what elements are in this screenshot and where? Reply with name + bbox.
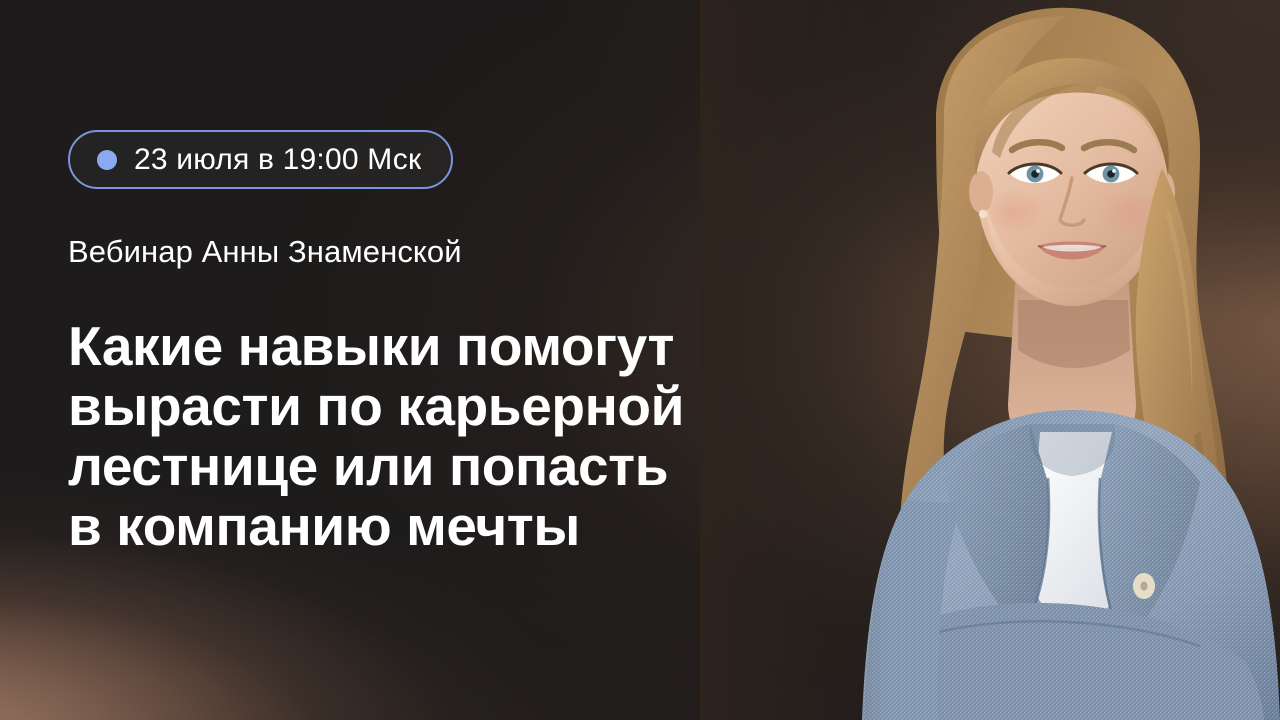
speaker-portrait <box>700 0 1280 720</box>
date-badge-label: 23 июля в 19:00 Мск <box>134 145 421 175</box>
headline-line-1: Какие навыки помогут <box>68 316 708 376</box>
date-badge: 23 июля в 19:00 Мск <box>68 130 453 189</box>
headline-line-4: в компанию мечты <box>68 496 708 556</box>
headline-line-2: вырасти по карьерной <box>68 376 708 436</box>
headline-line-3: лестнице или попасть <box>68 436 708 496</box>
banner-text-content: 23 июля в 19:00 Мск Вебинар Анны Знаменс… <box>68 0 728 720</box>
headline: Какие навыки помогут вырасти по карьерно… <box>68 316 708 556</box>
status-dot-icon <box>97 150 117 170</box>
webinar-subtitle: Вебинар Анны Знаменской <box>68 232 462 272</box>
webinar-promo-banner: 23 июля в 19:00 Мск Вебинар Анны Знаменс… <box>0 0 1280 720</box>
